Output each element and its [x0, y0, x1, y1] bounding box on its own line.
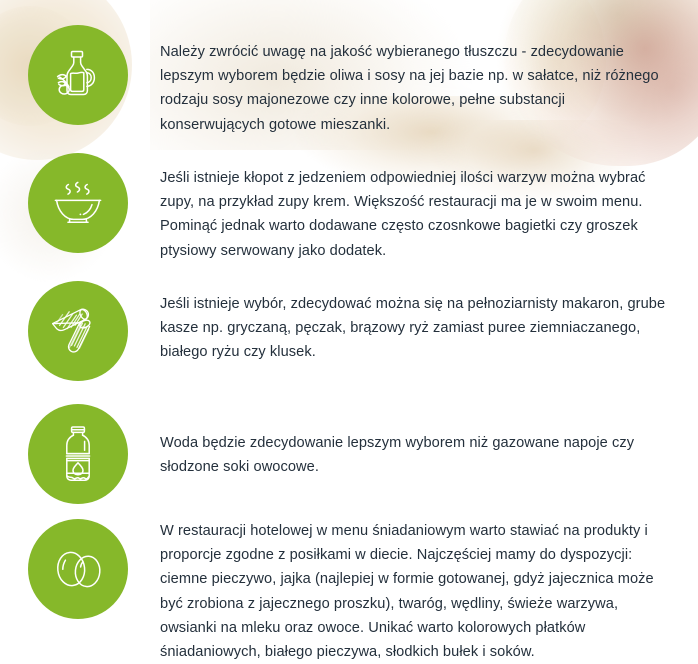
water-bottle-icon: [49, 423, 107, 485]
tip-text-oil: Należy zwrócić uwagę na jakość wybierane…: [160, 25, 668, 137]
tip-row-oil: Należy zwrócić uwagę na jakość wybierane…: [0, 25, 698, 137]
tip-row-pasta: Jeśli istnieje wybór, zdecydować można s…: [0, 281, 698, 381]
tip-row-water: Woda będzie zdecydowanie lepszym wyborem…: [0, 404, 698, 504]
eggs-icon: [46, 540, 110, 598]
badge-eggs: [28, 519, 128, 619]
oil-bottle-icon: [48, 45, 108, 105]
badge-pasta: [28, 281, 128, 381]
badge-water-bottle: [28, 404, 128, 504]
tip-text-pasta: Jeśli istnieje wybór, zdecydować można s…: [160, 281, 670, 365]
pasta-penne-icon: [44, 297, 112, 365]
tip-row-soup: Jeśli istnieje kłopot z jedzeniem odpowi…: [0, 153, 698, 263]
tip-row-eggs: W restauracji hotelowej w menu śniadanio…: [0, 519, 698, 664]
soup-bowl-icon: [47, 172, 109, 234]
tip-text-eggs: W restauracji hotelowej w menu śniadanio…: [160, 519, 676, 664]
badge-soup-bowl: [28, 153, 128, 253]
tip-text-water: Woda będzie zdecydowanie lepszym wyborem…: [160, 404, 668, 479]
tip-text-soup: Jeśli istnieje kłopot z jedzeniem odpowi…: [160, 153, 674, 263]
badge-oil-bottle: [28, 25, 128, 125]
